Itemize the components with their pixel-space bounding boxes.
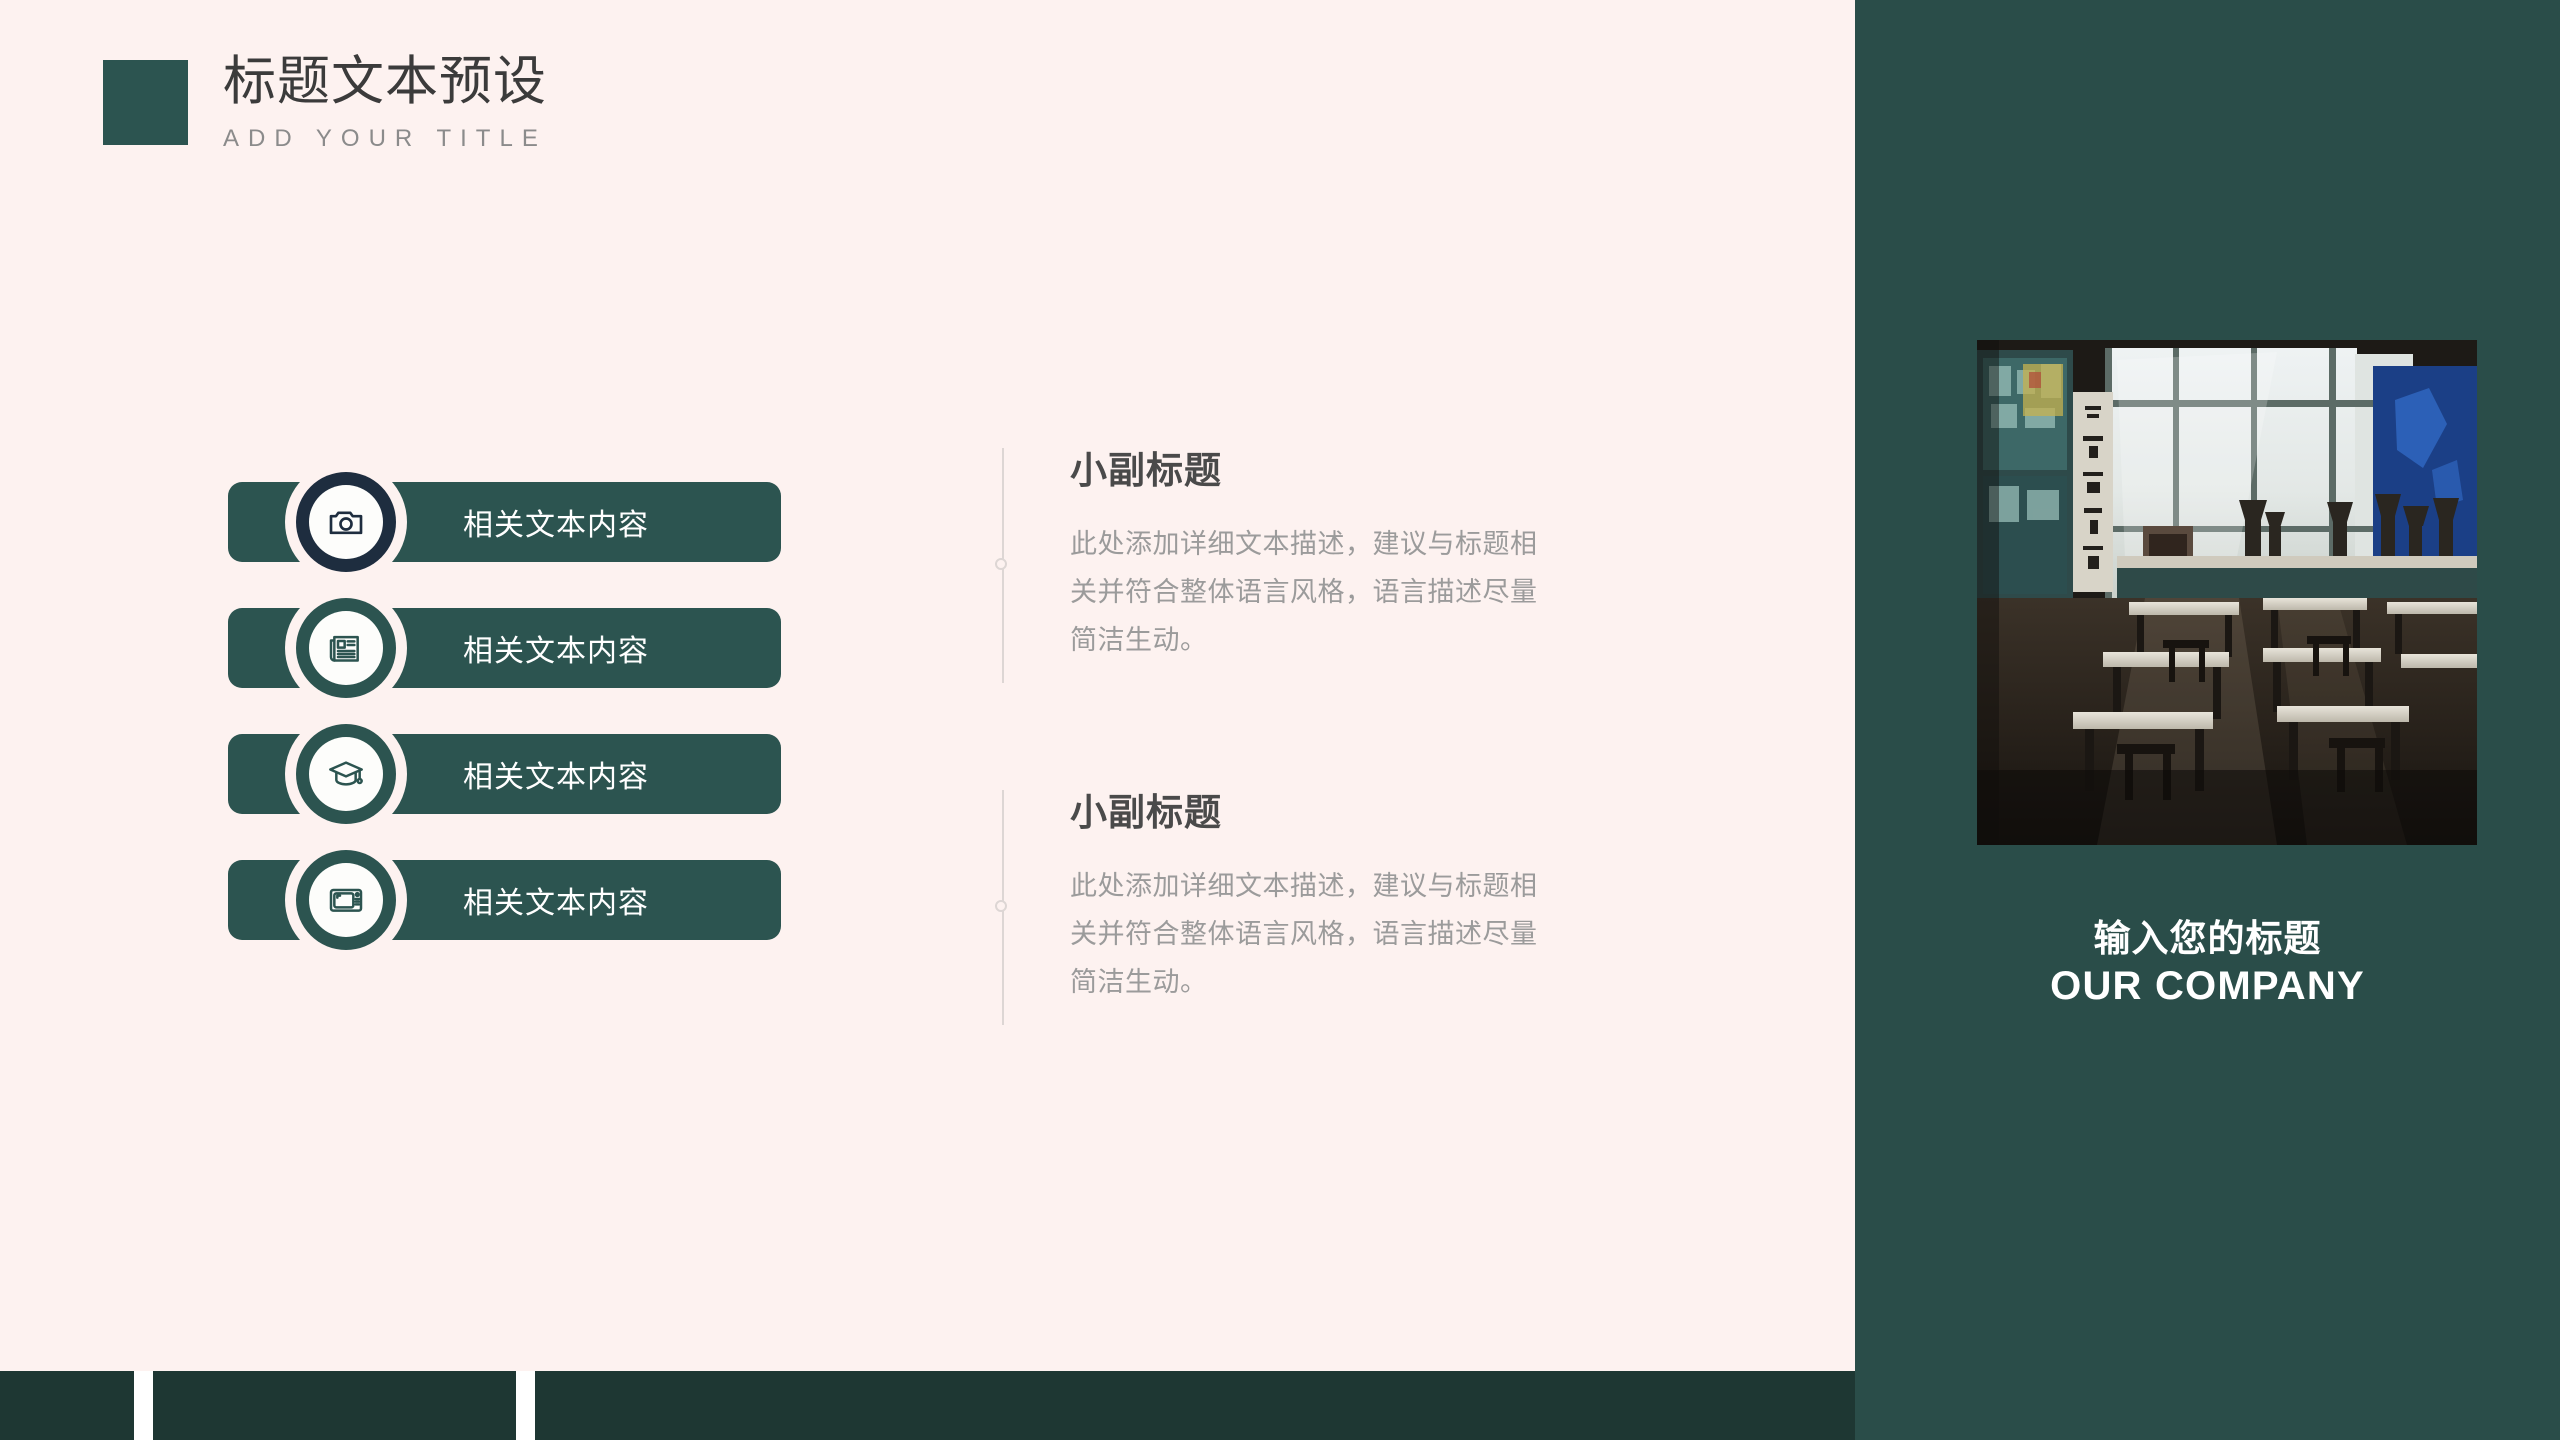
pill-badge <box>285 587 407 709</box>
company-caption-en: OUR COMPANY <box>1855 962 2560 1011</box>
list-item[interactable]: 相关文本内容 <box>228 734 788 814</box>
list-item-label: 相关文本内容 <box>463 482 649 562</box>
bottom-bar-gap <box>516 1371 535 1440</box>
list-item-label: 相关文本内容 <box>463 734 649 814</box>
bottom-bar <box>0 1371 1855 1440</box>
bottom-bar-gap <box>134 1371 153 1440</box>
slide-root: 标题文本预设 ADD YOUR TITLE 相关文本内容 <box>0 0 2560 1440</box>
section-title: 小副标题 <box>1070 440 1562 494</box>
list-item[interactable]: 相关文本内容 <box>228 482 788 562</box>
company-caption: 输入您的标题 OUR COMPANY <box>1855 915 2560 1011</box>
divider-dot-icon <box>995 558 1007 570</box>
section-body: 此处添加详细文本描述，建议与标题相关并符合整体语言风格，语言描述尽量简洁生动。 <box>1070 863 1540 1006</box>
header-texts: 标题文本预设 ADD YOUR TITLE <box>223 51 547 153</box>
pill-badge <box>285 839 407 961</box>
page-title: 标题文本预设 <box>223 51 547 114</box>
description-block: 小副标题 此处添加详细文本描述，建议与标题相关并符合整体语言风格，语言描述尽量简… <box>1002 782 1562 1006</box>
accent-square <box>103 60 188 145</box>
camera-icon <box>309 485 383 559</box>
badge-ring <box>296 472 396 572</box>
list-item[interactable]: 相关文本内容 <box>228 860 788 940</box>
pill-badge <box>285 713 407 835</box>
bottom-bar-segment <box>153 1371 516 1440</box>
company-caption-cn: 输入您的标题 <box>1855 915 2560 962</box>
page-subtitle: ADD YOUR TITLE <box>223 125 547 153</box>
pill-badge <box>285 461 407 583</box>
badge-ring <box>296 850 396 950</box>
classroom-photo <box>1977 340 2477 845</box>
divider-dot-icon <box>995 900 1007 912</box>
list-item[interactable]: 相关文本内容 <box>228 608 788 688</box>
description-block: 小副标题 此处添加详细文本描述，建议与标题相关并符合整体语言风格，语言描述尽量简… <box>1002 440 1562 664</box>
list-item-label: 相关文本内容 <box>463 860 649 940</box>
bottom-bar-segment <box>535 1371 1855 1440</box>
list-item-label: 相关文本内容 <box>463 608 649 688</box>
section-body: 此处添加详细文本描述，建议与标题相关并符合整体语言风格，语言描述尽量简洁生动。 <box>1070 521 1540 664</box>
section-title: 小副标题 <box>1070 782 1562 836</box>
graduation-cap-icon <box>309 737 383 811</box>
badge-ring <box>296 724 396 824</box>
bottom-bar-segment <box>0 1371 134 1440</box>
right-panel: 输入您的标题 OUR COMPANY <box>1855 0 2560 1440</box>
newspaper-icon <box>309 611 383 685</box>
description-column: 小副标题 此处添加详细文本描述，建议与标题相关并符合整体语言风格，语言描述尽量简… <box>1002 440 1562 1125</box>
badge-ring <box>296 598 396 698</box>
icon-pill-list: 相关文本内容 相关文本内容 <box>228 482 788 986</box>
television-icon <box>309 863 383 937</box>
